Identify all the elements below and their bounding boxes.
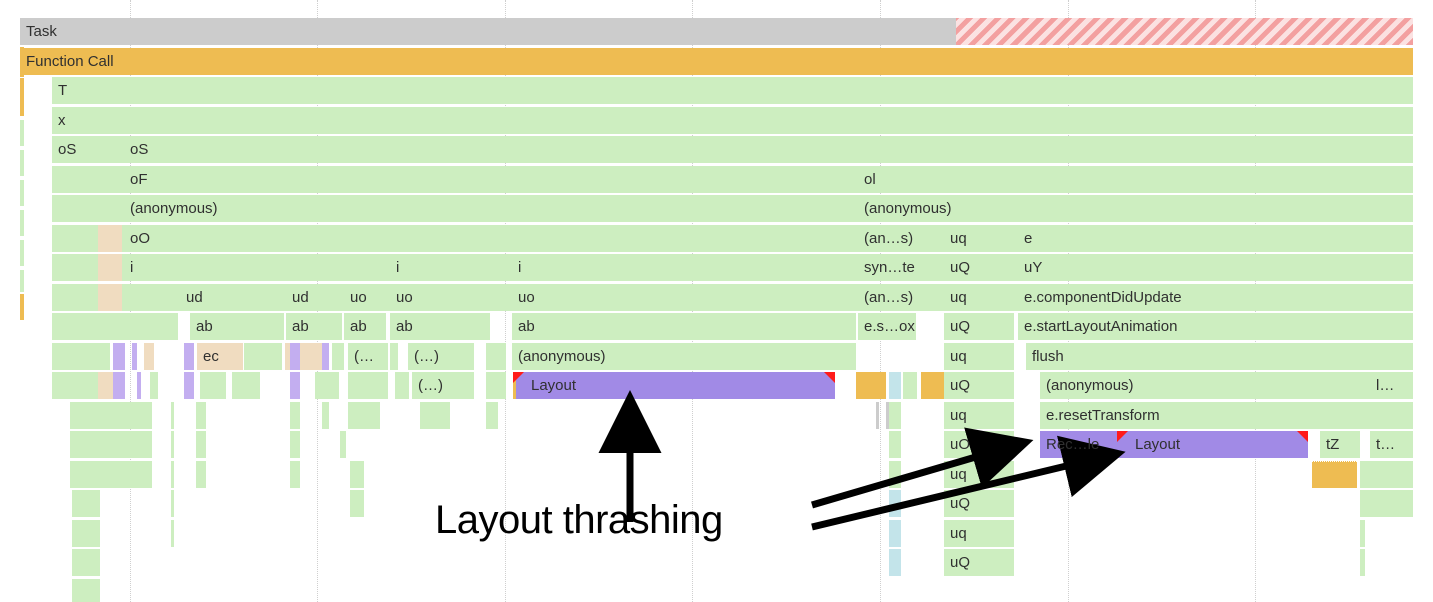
- flame-bar-label: e.resetTransform: [1046, 407, 1160, 424]
- flame-bar-label: uq: [950, 525, 967, 542]
- flame-bar-label: (…): [414, 348, 439, 365]
- flame-bar-label: syn…te: [864, 259, 915, 276]
- flame-bar-label: e: [1024, 230, 1032, 247]
- flame-bar-label: x: [58, 112, 66, 129]
- flame-bar-label: oS: [130, 141, 148, 158]
- layout-thrashing-annotation: Layout thrashing: [435, 498, 723, 543]
- flame-bar-label: uQ: [950, 554, 970, 571]
- flame-bar-label: tZ: [1326, 436, 1339, 453]
- flame-bar-label: uQ: [950, 495, 970, 512]
- flame-bar-label: ab: [196, 318, 213, 335]
- flame-bar-label: oS: [58, 141, 76, 158]
- flame-chart-canvas[interactable]: TaskFunction CallTxoSoSoFol(anonymous)(a…: [0, 0, 1433, 602]
- flame-bar-label: ab: [396, 318, 413, 335]
- flame-bar-label: e.startLayoutAnimation: [1024, 318, 1177, 335]
- flame-bar-label: (an…s): [864, 289, 913, 306]
- flame-bar-label: i: [396, 259, 399, 276]
- flame-bar-label: ab: [292, 318, 309, 335]
- flame-bar-label: uQ: [950, 259, 970, 276]
- flame-bar-label: Rec…le: [1046, 436, 1099, 453]
- flame-bar-label: ab: [518, 318, 535, 335]
- flame-bar-label: (anonymous): [518, 348, 606, 365]
- flame-bar-label: (anonymous): [130, 200, 218, 217]
- flame-bar-label: oO: [130, 230, 150, 247]
- flame-bar-label: l…: [1376, 377, 1394, 394]
- flame-bar-label: e.s…ox: [864, 318, 915, 335]
- flame-bar-label: ol: [864, 171, 876, 188]
- flame-bar-label: Function Call: [26, 53, 114, 70]
- flame-bar-label: e.componentDidUpdate: [1024, 289, 1182, 306]
- flame-bar-label: i: [130, 259, 133, 276]
- flame-bar-label: uo: [518, 289, 535, 306]
- flame-bar-label: (…): [418, 377, 443, 394]
- flame-bar-label: (…: [354, 348, 374, 365]
- flame-bar-label: Layout: [1135, 436, 1180, 453]
- flame-bar-label: uq: [950, 289, 967, 306]
- flame-bar-label: (anonymous): [864, 200, 952, 217]
- flame-bar-label: ec: [203, 348, 219, 365]
- flame-bar-label: Layout: [531, 377, 576, 394]
- flame-bar-label: t…: [1376, 436, 1395, 453]
- flame-bar-label: uO: [950, 436, 970, 453]
- flame-bar-label: flush: [1032, 348, 1064, 365]
- flame-bar-label: uo: [396, 289, 413, 306]
- flame-bar-label: ud: [292, 289, 309, 306]
- flame-bar-label: ab: [350, 318, 367, 335]
- flame-bar-label: uq: [950, 466, 967, 483]
- flame-bar-label: i: [518, 259, 521, 276]
- flame-bar-label: uq: [950, 230, 967, 247]
- flame-bar-label: uQ: [950, 377, 970, 394]
- flame-bar-label: uY: [1024, 259, 1042, 276]
- flame-bar-label: uq: [950, 348, 967, 365]
- flame-bar-label: uo: [350, 289, 367, 306]
- flame-bar-label: ud: [186, 289, 203, 306]
- flame-bar-label: (an…s): [864, 230, 913, 247]
- flame-bar-label: uq: [950, 407, 967, 424]
- flame-bar-label: uQ: [950, 318, 970, 335]
- flame-bar-label: oF: [130, 171, 148, 188]
- flame-bar-label: (anonymous): [1046, 377, 1134, 394]
- flame-bar-label: Task: [26, 23, 57, 40]
- flame-bar-label: T: [58, 82, 67, 99]
